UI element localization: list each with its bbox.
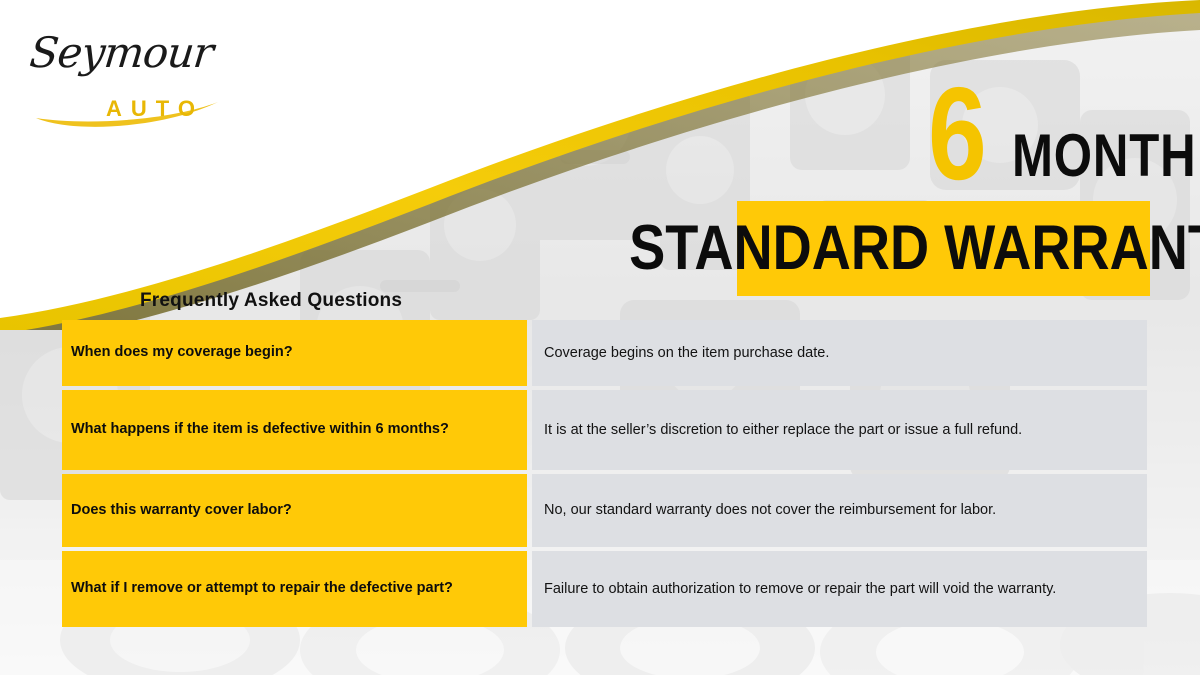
logo-subtitle: AUTO: [106, 96, 204, 122]
faq-answer-text: Coverage begins on the item purchase dat…: [544, 343, 1136, 363]
faq-answer-text: Failure to obtain authorization to remov…: [544, 579, 1136, 599]
faq-question-cell: When does my coverage begin?: [62, 320, 527, 386]
faq-answer-cell: Coverage begins on the item purchase dat…: [532, 320, 1147, 386]
faq-question-cell: What if I remove or attempt to repair th…: [62, 551, 527, 627]
faq-question-text: What if I remove or attempt to repair th…: [71, 579, 453, 599]
duration-unit: MONTH: [1012, 126, 1196, 186]
faq-question-text: Does this warranty cover labor?: [71, 501, 292, 521]
faq-answer-cell: Failure to obtain authorization to remov…: [532, 551, 1147, 627]
brand-logo: Seymour AUTO: [22, 22, 237, 137]
faq-answer-cell: It is at the seller’s discretion to eith…: [532, 390, 1147, 470]
faq-question-cell: What happens if the item is defective wi…: [62, 390, 527, 470]
faq-question-text: When does my coverage begin?: [71, 343, 293, 363]
slide-canvas: Seymour AUTO 6 MONTH STANDARD WARRANTY F…: [0, 0, 1200, 675]
logo-wordmark: Seymour: [28, 32, 215, 74]
faq-answer-text: No, our standard warranty does not cover…: [544, 500, 1136, 520]
faq-row: What if I remove or attempt to repair th…: [62, 551, 1147, 627]
faq-row: What happens if the item is defective wi…: [62, 390, 1147, 470]
faq-row: Does this warranty cover labor? No, our …: [62, 474, 1147, 547]
faq-question-cell: Does this warranty cover labor?: [62, 474, 527, 547]
faq-row: When does my coverage begin? Coverage be…: [62, 320, 1147, 386]
faq-table: When does my coverage begin? Coverage be…: [62, 320, 1147, 623]
faq-question-text: What happens if the item is defective wi…: [71, 420, 449, 440]
standard-warranty-label: STANDARD WARRANTY: [629, 217, 1200, 280]
duration-number: 6: [928, 68, 985, 200]
faq-answer-text: It is at the seller’s discretion to eith…: [544, 420, 1136, 440]
faq-heading: Frequently Asked Questions: [140, 290, 402, 312]
faq-answer-cell: No, our standard warranty does not cover…: [532, 474, 1147, 547]
standard-warranty-banner: STANDARD WARRANTY: [737, 201, 1150, 296]
